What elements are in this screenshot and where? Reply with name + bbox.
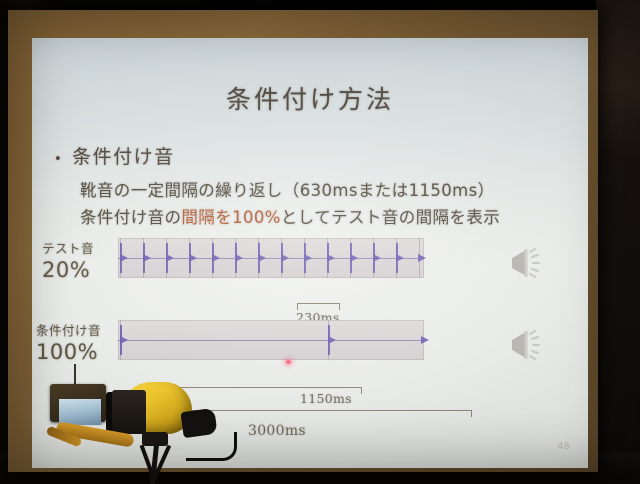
row-percent-test-sound: 20% [42, 258, 94, 282]
interval-bracket-230ms [297, 303, 340, 310]
row-label-test-sound: テスト音 20% [42, 238, 94, 282]
body-line-2: 条件付け音の間隔を100%としてテスト音の間隔を表示 [80, 204, 500, 228]
row-label-conditioning-sound: 条件付け音 100% [36, 320, 101, 364]
speaker-icon [500, 242, 546, 282]
slide-title: 条件付け方法 [32, 80, 588, 116]
body-line-1: 靴音の一定間隔の繰り返し（630msまたは1150ms） [80, 177, 495, 201]
room-background: 条件付け方法 • 条件付け音 靴音の一定間隔の繰り返し（630msまたは1150… [0, 0, 640, 480]
camera-lcd-screen [59, 399, 101, 425]
waveform-test-sound [118, 238, 424, 278]
waveform-conditioning-sound [118, 320, 424, 360]
row-percent-conditioning-sound: 100% [36, 340, 101, 364]
body-line-2-highlight: 間隔を100% [181, 208, 280, 227]
bullet-dot-icon: • [54, 153, 63, 166]
interval-label-1150ms: 1150ms [300, 391, 352, 406]
total-duration-label: 3000ms [248, 423, 306, 439]
right-wall [596, 0, 640, 480]
slide-number: 48 [558, 442, 570, 452]
camera-lens-block [112, 390, 146, 434]
camera-cable [186, 432, 237, 461]
bullet-label: 条件付け音 [72, 142, 175, 169]
bullet-item: • 条件付け音 [54, 142, 175, 169]
body-line-2-prefix: 条件付け音の [80, 208, 181, 227]
speaker-icon [500, 324, 546, 364]
laser-pointer-dot [286, 360, 291, 364]
row-name-test-sound: テスト音 [42, 238, 94, 257]
body-line-2-suffix: としてテスト音の間隔を表示 [281, 208, 500, 227]
camera-lcd-frame [50, 384, 106, 422]
video-camera [46, 374, 216, 480]
waveform-baseline [118, 340, 424, 341]
row-name-conditioning-sound: 条件付け音 [36, 320, 101, 339]
